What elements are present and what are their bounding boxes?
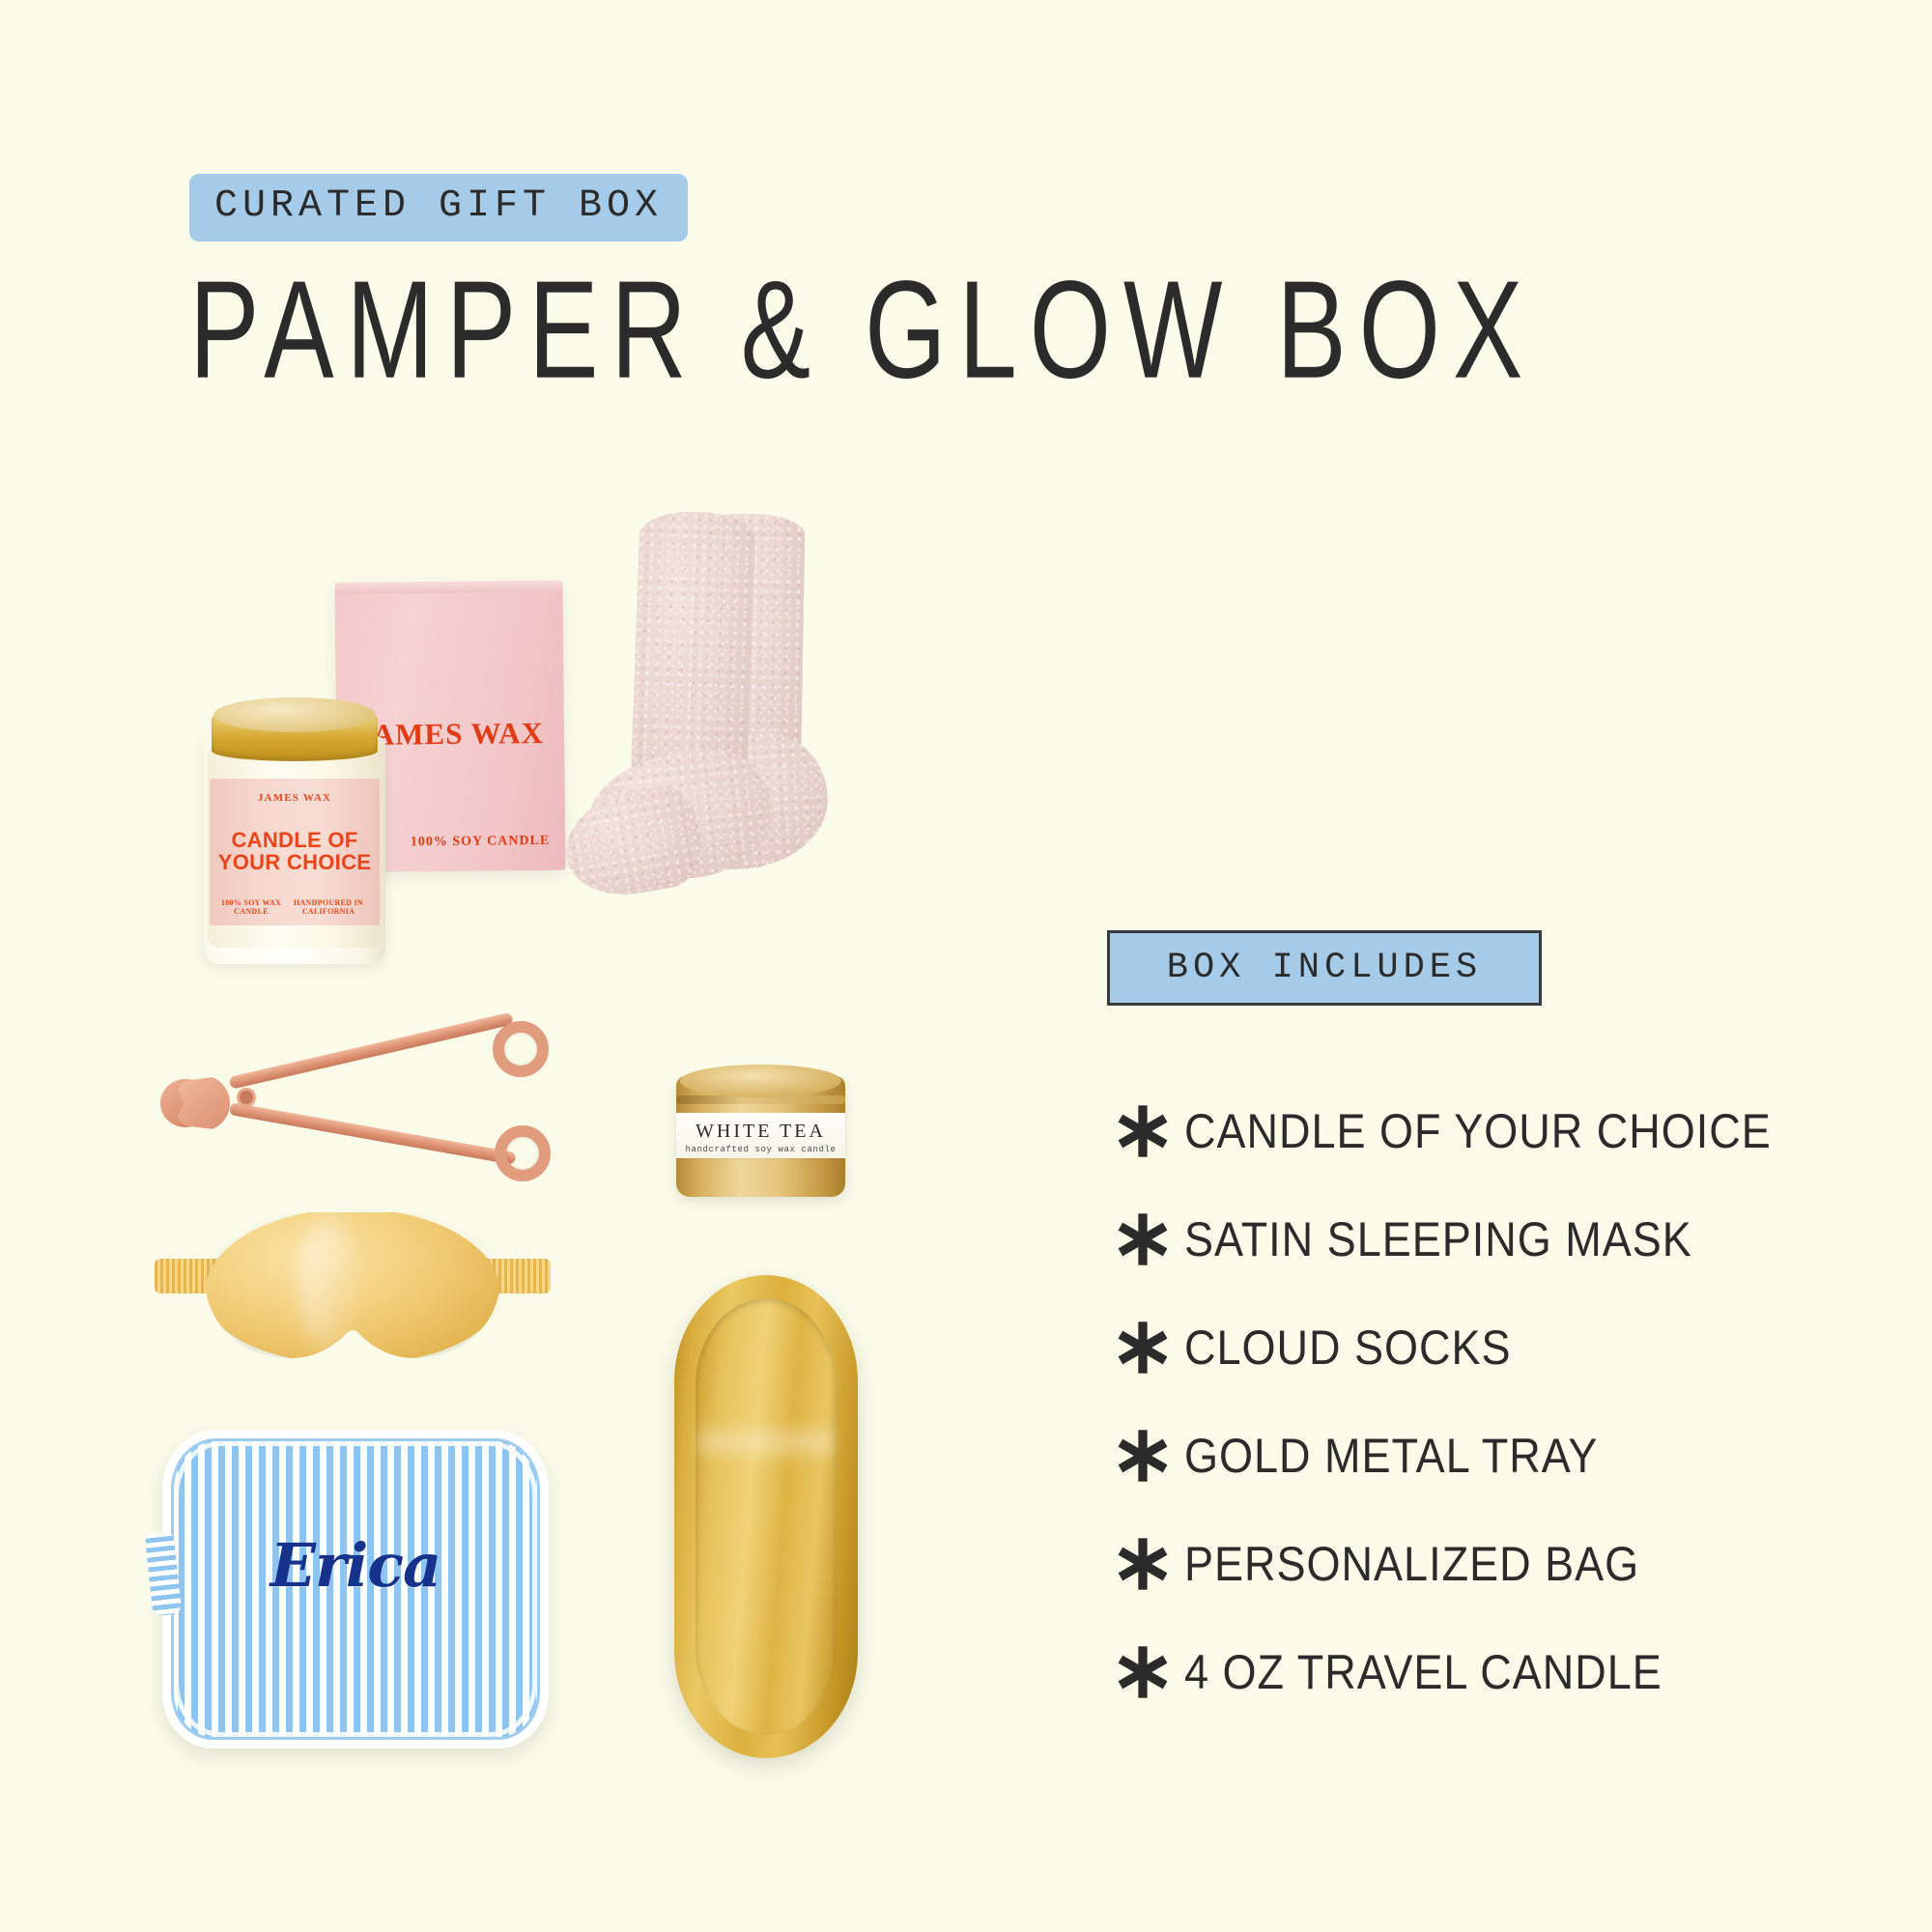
- jar-label-brand: JAMES WAX: [210, 792, 380, 804]
- page-title: PAMPER & GLOW BOX: [189, 256, 1535, 406]
- list-item: GOLD METAL TRAY: [1101, 1402, 1874, 1510]
- jar-footer-right: HANDPOURED IN CALIFORNIA: [285, 898, 372, 916]
- product-personalized-bag: Erica: [162, 1430, 549, 1748]
- list-item: PERSONALIZED BAG: [1101, 1510, 1874, 1618]
- jar-lid-top: [213, 697, 376, 732]
- trimmer-arm-upper: [229, 1012, 514, 1090]
- product-gold-tray: [674, 1275, 858, 1758]
- tin-descriptor: handcrafted soy wax candle: [676, 1145, 845, 1154]
- trimmer-handle-ring-upper: [493, 1021, 549, 1077]
- tin-scent-name: WHITE TEA: [676, 1121, 845, 1143]
- list-item: SATIN SLEEPING MASK: [1101, 1185, 1874, 1293]
- list-item: 4 OZ TRAVEL CANDLE: [1101, 1618, 1874, 1726]
- tray-inner-well: [696, 1298, 837, 1735]
- list-item-label: CLOUD SOCKS: [1184, 1320, 1512, 1376]
- product-candle-jar: JAMES WAX CANDLE OF YOUR CHOICE 100% SOY…: [198, 676, 391, 966]
- list-item-label: PERSONALIZED BAG: [1184, 1536, 1639, 1592]
- tin-lid-top: [680, 1065, 841, 1097]
- jar-label: JAMES WAX CANDLE OF YOUR CHOICE 100% SOY…: [210, 779, 380, 925]
- product-wick-trimmer: [155, 1019, 570, 1193]
- box-includes-list: CANDLE OF YOUR CHOICE SATIN SLEEPING MAS…: [1101, 1077, 1874, 1726]
- sock-texture: [557, 781, 708, 905]
- trimmer-arm-lower: [229, 1102, 517, 1165]
- asterisk-icon: [1101, 1320, 1184, 1376]
- list-item-label: CANDLE OF YOUR CHOICE: [1184, 1103, 1772, 1159]
- mask-sheen: [299, 1216, 357, 1351]
- list-item-label: 4 OZ TRAVEL CANDLE: [1184, 1644, 1662, 1700]
- asterisk-icon: [1101, 1211, 1184, 1267]
- product-cloud-socks: [565, 512, 855, 1053]
- box-includes-heading: BOX INCLUDES: [1107, 930, 1542, 1006]
- sock-front-toe: [557, 781, 708, 905]
- asterisk-icon: [1101, 1103, 1184, 1159]
- eyebrow-badge-wrap: CURATED GIFT BOX: [189, 174, 688, 241]
- asterisk-icon: [1101, 1428, 1184, 1484]
- product-travel-tin: WHITE TEA handcrafted soy wax candle: [676, 1063, 845, 1203]
- product-sleep-mask: [155, 1203, 551, 1372]
- asterisk-icon: [1101, 1644, 1184, 1700]
- retail-box-lid-edge: [334, 581, 562, 594]
- jar-label-name-line1: CANDLE OF: [231, 828, 357, 852]
- gift-box-product-graphic: CURATED GIFT BOX PAMPER & GLOW BOX JAMES…: [0, 0, 1932, 1932]
- list-item-label: SATIN SLEEPING MASK: [1184, 1211, 1692, 1267]
- trimmer-pivot-screw: [240, 1091, 253, 1104]
- tray-highlight: [697, 1420, 835, 1464]
- list-item: CANDLE OF YOUR CHOICE: [1101, 1077, 1874, 1185]
- jar-label-name: CANDLE OF YOUR CHOICE: [210, 829, 380, 874]
- list-item-label: GOLD METAL TRAY: [1184, 1428, 1598, 1484]
- list-item: CLOUD SOCKS: [1101, 1293, 1874, 1402]
- box-includes-heading-label: BOX INCLUDES: [1167, 948, 1482, 988]
- tin-label-band: WHITE TEA handcrafted soy wax candle: [676, 1113, 845, 1158]
- trimmer-handle-ring-lower: [495, 1125, 551, 1181]
- jar-footer-left: 100% SOY WAX CANDLE: [217, 898, 285, 916]
- asterisk-icon: [1101, 1536, 1184, 1592]
- bag-embroidered-name: Erica: [162, 1530, 549, 1601]
- jar-label-footer: 100% SOY WAX CANDLE HANDPOURED IN CALIFO…: [217, 898, 372, 916]
- retail-box-footnote: 100% SOY CANDLE: [411, 834, 551, 851]
- jar-label-name-line2: YOUR CHOICE: [218, 850, 372, 874]
- eyebrow-badge: CURATED GIFT BOX: [189, 174, 688, 241]
